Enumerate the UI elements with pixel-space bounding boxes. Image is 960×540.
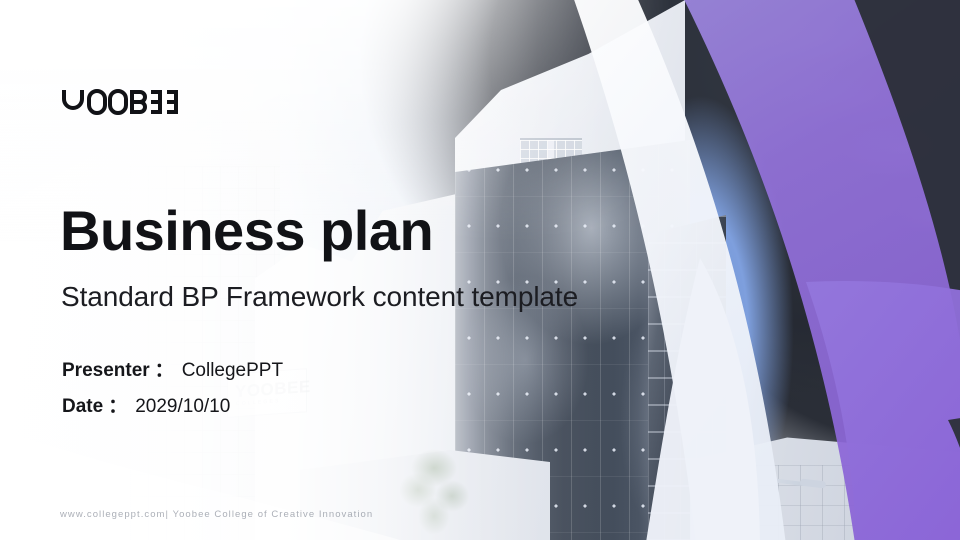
footer: www.collegeppt.com| Yoobee College of Cr…	[60, 509, 373, 520]
presenter-label: Presenter	[62, 360, 150, 382]
page-title: Business plan	[60, 203, 433, 259]
date-row: Date ： 2029/10/10	[62, 391, 283, 418]
purple-lower-right	[806, 281, 960, 540]
presenter-value: CollegePPT	[182, 360, 283, 382]
decorative-arc-group	[0, 0, 960, 540]
yoobee-logo-mark	[60, 86, 180, 118]
date-colon: ：	[108, 391, 127, 418]
footer-separator: |	[166, 509, 170, 520]
presenter-colon: ：	[155, 355, 174, 382]
footer-site: www.collegeppt.com	[60, 509, 166, 520]
presentation-meta: Presenter ： CollegePPT Date ： 2029/10/10	[62, 355, 283, 427]
date-label: Date	[62, 396, 103, 418]
yoobee-logo	[60, 86, 180, 118]
footer-organization: Yoobee College of Creative Innovation	[173, 509, 374, 520]
presenter-row: Presenter ： CollegePPT	[62, 355, 283, 382]
date-value: 2029/10/10	[135, 396, 230, 418]
page-subtitle: Standard BP Framework content template	[61, 281, 578, 313]
bottom-left-white-fade	[0, 430, 400, 540]
title-slide: YOOBEE COLLEGES	[0, 0, 960, 540]
